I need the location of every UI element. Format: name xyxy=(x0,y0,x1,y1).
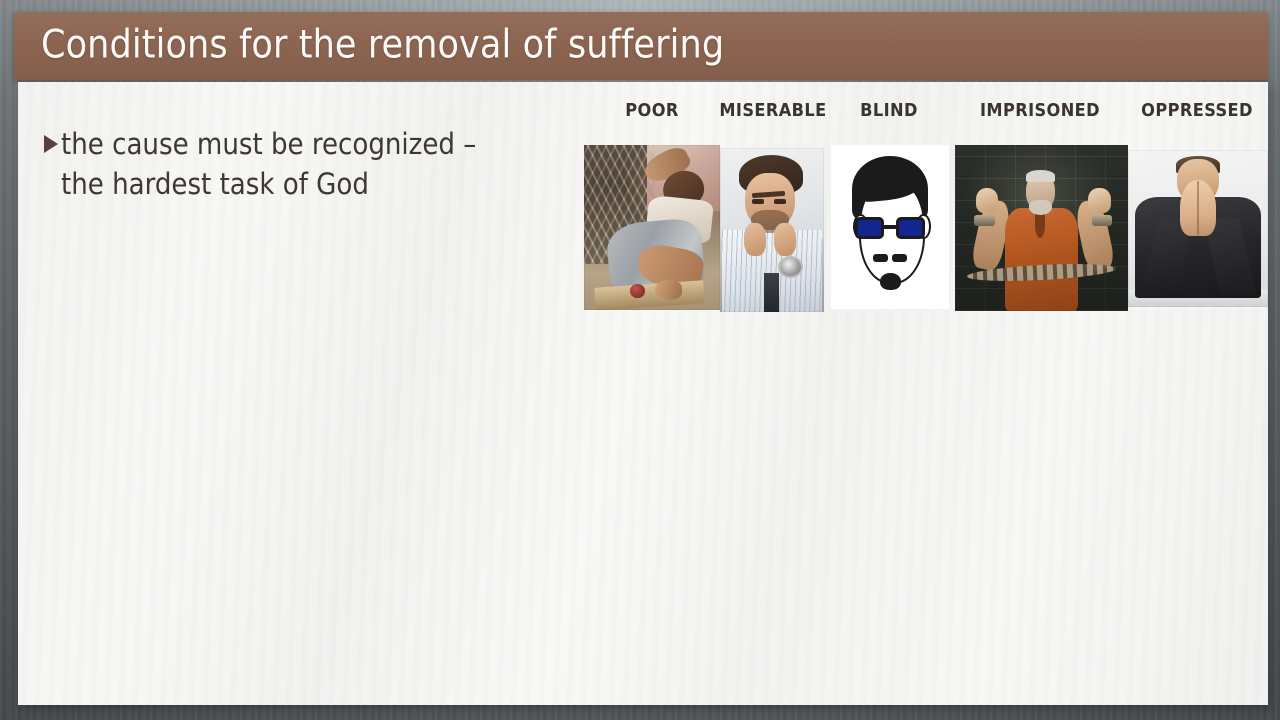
blind-photo-lens-right xyxy=(896,217,925,239)
imprisoned-photo-cuff-right xyxy=(1092,215,1113,227)
imprisoned-photo-hand-left xyxy=(976,188,998,213)
oppressed-photo-hand-split xyxy=(1197,181,1199,234)
photo-label-miserable: MISERABLE xyxy=(719,100,826,121)
poor-photo-board xyxy=(594,280,704,310)
page-title: Conditions for the removal of suffering xyxy=(41,23,724,68)
poor-photo xyxy=(584,145,720,310)
miserable-photo-eye-left xyxy=(752,199,763,204)
miserable-photo-fist-left xyxy=(744,223,766,256)
imprisoned-photo-cuff-left xyxy=(974,215,995,227)
photo-label-blind: BLIND xyxy=(860,100,918,121)
photo-label-row: POOR MISERABLE BLIND IMPRISONED OPPRESSE… xyxy=(548,100,1248,130)
photo-label-imprisoned: IMPRISONED xyxy=(980,100,1100,121)
photo-label-oppressed: OPPRESSED xyxy=(1141,100,1253,121)
miserable-photo-tie xyxy=(764,273,780,312)
bullet-list: the cause must be recognized – the harde… xyxy=(44,124,514,204)
blind-photo-glasses-bridge xyxy=(884,225,897,229)
triangle-bullet-icon xyxy=(44,135,58,153)
slide-root: Conditions for the removal of suffering … xyxy=(0,0,1280,720)
blind-photo-lens-left xyxy=(855,217,884,239)
blind-photo xyxy=(830,144,950,310)
imprisoned-photo-hand-right xyxy=(1088,188,1110,213)
imprisoned-photo-beard xyxy=(1029,200,1051,215)
slide-body: the cause must be recognized – the harde… xyxy=(18,82,1268,705)
miserable-photo-fist-right xyxy=(774,223,796,256)
imprisoned-photo-hair xyxy=(1026,170,1055,182)
title-banner: Conditions for the removal of suffering xyxy=(14,12,1268,80)
miserable-photo xyxy=(720,148,824,312)
bullet-text: the cause must be recognized – the harde… xyxy=(61,124,514,204)
blind-photo-goatee xyxy=(880,273,900,290)
blind-photo-moustache xyxy=(873,254,907,262)
list-item: the cause must be recognized – the harde… xyxy=(44,124,514,204)
photo-strip: POOR MISERABLE BLIND IMPRISONED OPPRESSE… xyxy=(548,100,1248,340)
imprisoned-photo-neckline xyxy=(1035,211,1045,238)
miserable-photo-eye-right xyxy=(774,199,785,204)
sunglasses-icon xyxy=(855,217,925,239)
imprisoned-photo xyxy=(955,145,1128,311)
photo-label-poor: POOR xyxy=(625,100,678,121)
poor-photo-foot xyxy=(655,280,682,300)
oppressed-photo xyxy=(1128,150,1268,307)
